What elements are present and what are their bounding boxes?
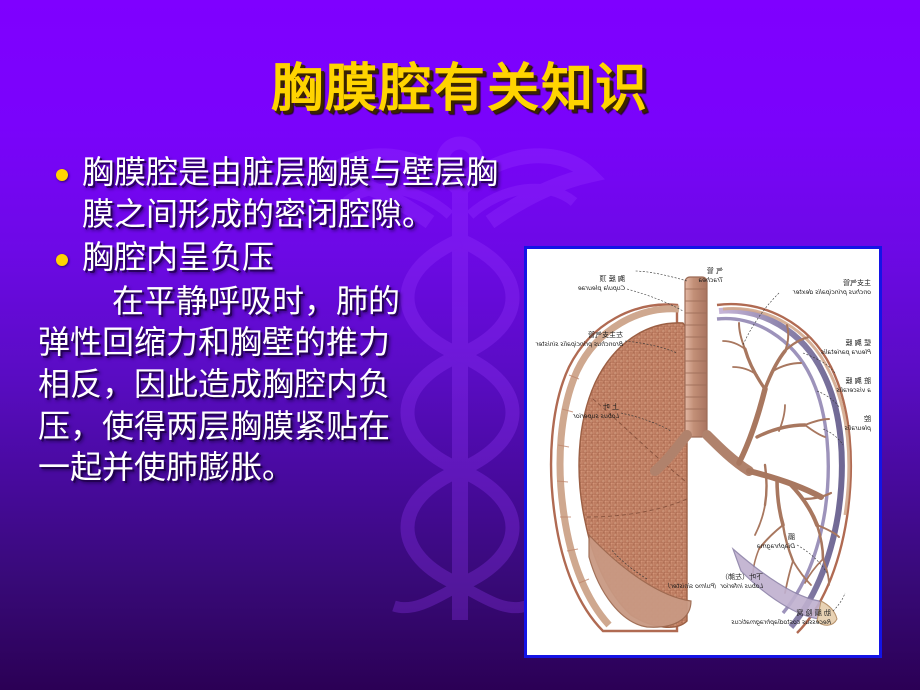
svg-text:肋 膈 隐 窝: 肋 膈 隐 窝	[796, 608, 831, 617]
list-item: 胸腔内呈负压	[38, 237, 508, 279]
bullet-dot-icon	[56, 169, 68, 181]
paragraph-line-4: 压，使得两层胸膜紧贴在	[38, 406, 508, 448]
svg-text:Recessus costodiaphragmaticus: Recessus costodiaphragmaticus	[731, 618, 831, 626]
svg-text:腔: 腔	[864, 414, 871, 423]
bullet-text-2: 胸腔内呈负压	[82, 237, 508, 279]
svg-text:Lobus inferior（Pulmo sinister）: Lobus inferior（Pulmo sinister）	[664, 582, 763, 590]
svg-text:Pleura parietalis: Pleura parietalis	[820, 348, 871, 356]
svg-text:上 叶: 上 叶	[603, 402, 619, 411]
svg-text:Bronchus principalis sinister: Bronchus principalis sinister	[535, 340, 623, 348]
paragraph-line-2: 弹性回缩力和胸壁的推力	[38, 322, 508, 364]
svg-text:pleuralis: pleuralis	[844, 425, 872, 432]
svg-text:主支气管: 主支气管	[843, 278, 871, 287]
page-title: 胸膜腔有关知识	[0, 60, 920, 120]
bullet-text-1: 胸膜腔是由脏层胸膜与壁层胸膜之间形成的密闭腔隙。	[82, 152, 508, 235]
paragraph-line-5: 一起并使肺膨胀。	[38, 447, 508, 489]
svg-text:Cupula pleurae: Cupula pleurae	[578, 285, 625, 292]
svg-text:气 管: 气 管	[707, 266, 723, 275]
svg-text:左主支气管: 左主支气管	[588, 330, 623, 339]
list-item: 胸膜腔是由脏层胸膜与壁层胸膜之间形成的密闭腔隙。	[38, 152, 508, 235]
svg-text:下叶（左肺）: 下叶（左肺）	[721, 572, 763, 581]
svg-text:onchus principalis dexter: onchus principalis dexter	[793, 288, 871, 296]
svg-text:Lobus superior: Lobus superior	[573, 413, 619, 420]
svg-text:脏 胸 膜: 脏 胸 膜	[846, 376, 871, 385]
svg-text:膈: 膈	[788, 533, 795, 541]
svg-text:Diaphragma: Diaphragma	[757, 543, 795, 550]
lung-pleura-anatomy-image: 气 管 Trachea 胸 膜 顶 Cupula pleurae 左主支气管 B…	[524, 246, 882, 658]
anatomy-illustration: 气 管 Trachea 胸 膜 顶 Cupula pleurae 左主支气管 B…	[527, 249, 879, 655]
paragraph-line-3: 相反，因此造成胸腔内负	[38, 364, 508, 406]
slide-body: 胸膜腔是由脏层胸膜与壁层胸膜之间形成的密闭腔隙。 胸腔内呈负压 在平静呼吸时，肺…	[38, 152, 508, 489]
svg-text:胸 膜 顶: 胸 膜 顶	[600, 274, 625, 283]
svg-text:壁 胸 膜: 壁 胸 膜	[846, 338, 871, 347]
svg-text:Trachea: Trachea	[698, 277, 723, 284]
slide-canvas: 胸膜腔有关知识 胸膜腔是由脏层胸膜与壁层胸膜之间形成的密闭腔隙。 胸腔内呈负压 …	[0, 0, 920, 690]
body-paragraph: 在平静呼吸时，肺的 弹性回缩力和胸壁的推力 相反，因此造成胸腔内负 压，使得两层…	[38, 281, 508, 489]
bullet-dot-icon	[56, 254, 68, 266]
svg-text:a visceralis: a visceralis	[836, 387, 871, 394]
paragraph-line-1: 在平静呼吸时，肺的	[38, 281, 508, 323]
